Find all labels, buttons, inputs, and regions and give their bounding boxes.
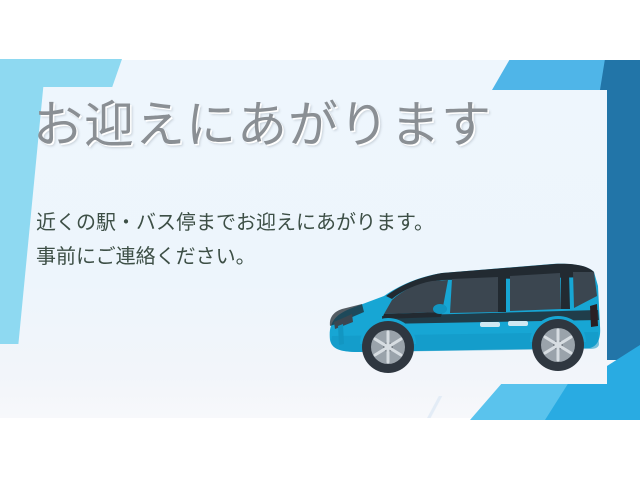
pickup-service-banner: お迎えにあがります 近くの駅・バス停までお迎えにあがります。 事前にご連絡くださ… — [0, 0, 640, 480]
decor-thin-diagonal-line — [398, 396, 474, 418]
decor-top-right-medium-shape — [492, 60, 616, 90]
rear-wheel — [532, 319, 584, 371]
minivan-illustration — [322, 252, 612, 387]
page-title: お迎えにあがります — [33, 100, 492, 150]
front-wheel — [362, 321, 414, 373]
